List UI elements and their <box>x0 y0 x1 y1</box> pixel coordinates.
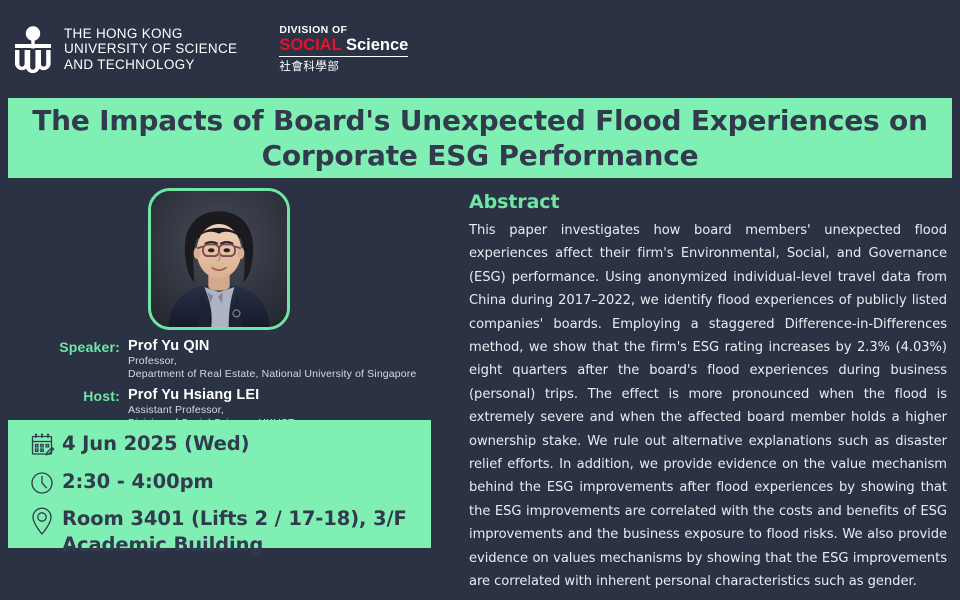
event-date: 4 Jun 2025 (Wed) <box>62 428 425 458</box>
title-banner: The Impacts of Board's Unexpected Flood … <box>8 98 952 178</box>
abstract-section: Abstract This paper investigates how boa… <box>469 190 947 594</box>
speaker-affiliation-line2: Department of Real Estate, National Univ… <box>128 368 460 381</box>
abstract-heading: Abstract <box>469 190 947 214</box>
speaker-row: Speaker: Prof Yu QIN Professor, Departme… <box>0 338 460 381</box>
hkust-wordmark-line1: THE HONG KONG <box>64 26 237 42</box>
seminar-poster: THE HONG KONG UNIVERSITY OF SCIENCE AND … <box>0 0 960 600</box>
speaker-portrait <box>148 188 290 330</box>
host-label: Host: <box>0 387 128 405</box>
event-venue: Room 3401 (Lifts 2 / 17-18), 3/F Academi… <box>62 504 425 558</box>
speaker-affiliation-line1: Professor, <box>128 355 460 368</box>
division-name-social: SOCIAL <box>279 36 341 54</box>
clock-icon <box>22 466 62 500</box>
speaker-label: Speaker: <box>0 338 128 356</box>
abstract-body: This paper investigates how board member… <box>469 219 947 594</box>
event-details-box: 4 Jun 2025 (Wed) 2:30 - 4:00pm <box>8 420 431 548</box>
page-title: The Impacts of Board's Unexpected Flood … <box>26 103 934 173</box>
speaker-portrait-image <box>151 191 287 327</box>
division-name-science: Science <box>346 36 408 54</box>
hkust-wordmark-line2: UNIVERSITY OF SCIENCE <box>64 41 237 57</box>
poster-header: THE HONG KONG UNIVERSITY OF SCIENCE AND … <box>0 0 960 98</box>
division-label: DIVISION OF <box>279 24 408 36</box>
event-venue-row: Room 3401 (Lifts 2 / 17-18), 3/F Academi… <box>22 504 425 558</box>
speaker-details: Prof Yu QIN Professor, Department of Rea… <box>128 338 460 381</box>
event-time: 2:30 - 4:00pm <box>62 466 425 496</box>
speaker-name: Prof Yu QIN <box>128 338 460 355</box>
hkust-wordmark-line3: AND TECHNOLOGY <box>64 57 237 73</box>
division-name-chinese: 社會科學部 <box>279 59 408 75</box>
calendar-icon <box>22 428 62 462</box>
hkust-wordmark: THE HONG KONG UNIVERSITY OF SCIENCE AND … <box>64 26 237 73</box>
event-date-row: 4 Jun 2025 (Wed) <box>22 428 425 462</box>
event-time-row: 2:30 - 4:00pm <box>22 466 425 500</box>
location-pin-icon <box>22 504 62 538</box>
hkust-logo: THE HONG KONG UNIVERSITY OF SCIENCE AND … <box>12 24 237 74</box>
division-of-social-science-logo: DIVISION OF SOCIAL Science 社會科學部 <box>279 24 408 75</box>
division-name: SOCIAL Science <box>279 36 408 57</box>
host-affiliation-line1: Assistant Professor, <box>128 404 460 417</box>
hkust-emblem-icon <box>12 24 54 74</box>
host-name: Prof Yu Hsiang LEI <box>128 387 460 404</box>
